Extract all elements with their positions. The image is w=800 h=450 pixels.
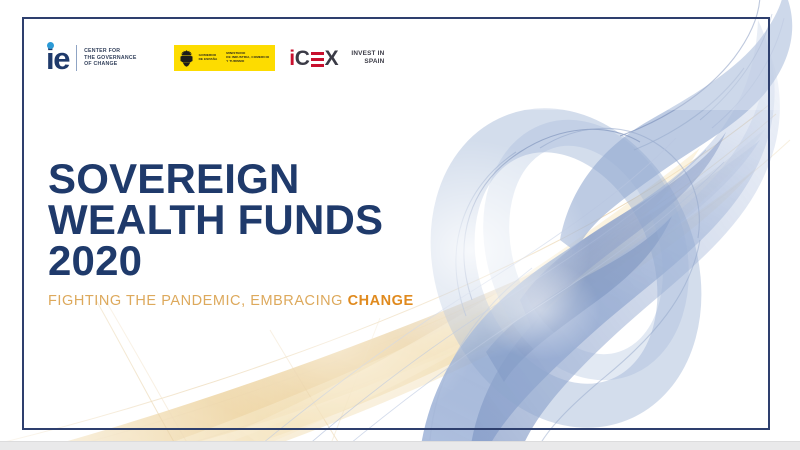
ie-dot-icon (47, 42, 54, 49)
government-logo-text: GOBIERNO DE ESPAÑA MINISTERIO DE INDUSTR… (199, 52, 270, 64)
cover-subtitle: FIGHTING THE PANDEMIC, EMBRACING CHANGE (48, 293, 414, 310)
ie-tagline-line-2: THE GOVERNANCE (84, 55, 137, 62)
icex-letter-x: X (325, 47, 339, 70)
invest-in-spain-tagline: INVEST IN SPAIN (351, 50, 384, 66)
invest-in-spain-line-1: INVEST IN (351, 50, 384, 58)
icex-logo: iCX INVEST IN SPAIN (289, 48, 384, 69)
icex-letter-e-icon (311, 52, 324, 67)
government-line-2: DE ESPAÑA (199, 58, 218, 62)
subtitle-accent-word: CHANGE (348, 293, 414, 309)
cover-title-block: SOVEREIGN WEALTH FUNDS 2020 FIGHTING THE… (48, 158, 414, 310)
ministry-line-3: Y TURISMO (226, 60, 269, 64)
title-line-2: WEALTH FUNDS (48, 199, 414, 240)
ie-wordmark: ie (46, 43, 71, 74)
spain-coat-of-arms-icon (179, 50, 194, 67)
government-name-block: GOBIERNO DE ESPAÑA (199, 54, 218, 62)
ministry-name-block: MINISTERIO DE INDUSTRIA, COMERCIO Y TURI… (226, 52, 269, 64)
title-line-3: 2020 (48, 240, 414, 281)
ie-letter-e: e (53, 41, 69, 76)
logo-divider (76, 45, 77, 71)
subtitle-text: FIGHTING THE PANDEMIC, EMBRACING (48, 293, 348, 309)
report-cover: ie CENTER FOR THE GOVERNANCE OF CHANGE (0, 0, 800, 450)
ie-tagline-line-1: CENTER FOR (84, 48, 137, 55)
title-line-1: SOVEREIGN (48, 158, 414, 199)
ie-logo: ie CENTER FOR THE GOVERNANCE OF CHANGE (46, 41, 137, 75)
page-edge-strip (0, 442, 800, 450)
logo-bar: ie CENTER FOR THE GOVERNANCE OF CHANGE (46, 38, 384, 78)
invest-in-spain-line-2: SPAIN (351, 58, 384, 66)
government-of-spain-logo: GOBIERNO DE ESPAÑA MINISTERIO DE INDUSTR… (174, 45, 276, 71)
ie-tagline: CENTER FOR THE GOVERNANCE OF CHANGE (84, 48, 137, 68)
icex-wordmark: iCX (289, 48, 338, 69)
icex-letter-c: C (295, 47, 310, 70)
ie-tagline-line-3: OF CHANGE (84, 61, 137, 68)
